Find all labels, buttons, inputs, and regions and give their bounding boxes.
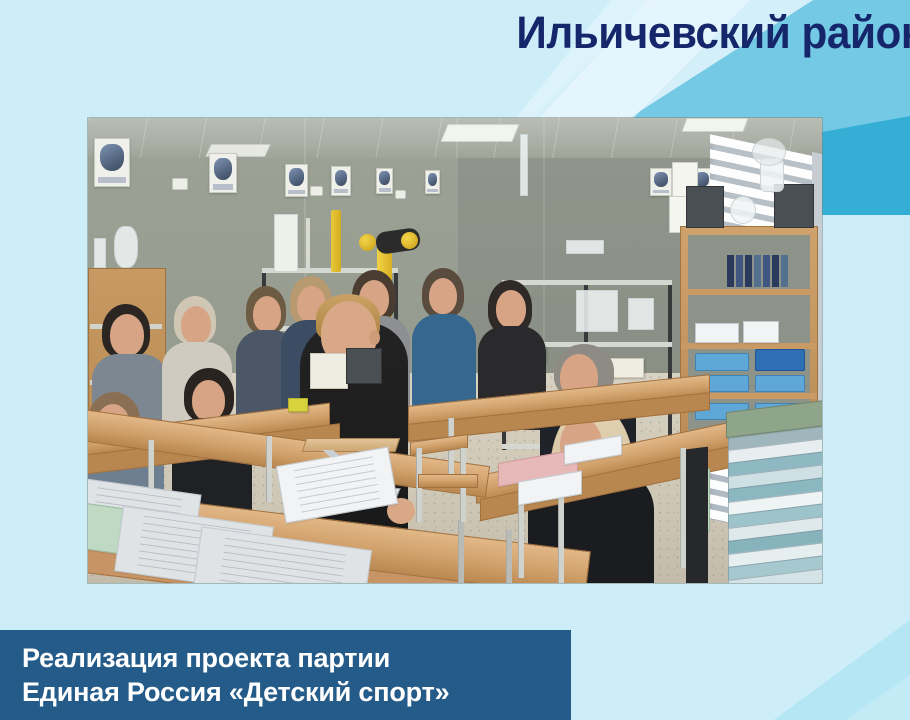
- book: [736, 255, 743, 287]
- lab-model: [752, 138, 786, 166]
- rack-board: [502, 280, 672, 285]
- wall-portrait: [331, 166, 351, 196]
- sample-box: [310, 353, 348, 389]
- rack-post: [668, 280, 672, 450]
- caption-banner: Реализация проекта партии Единая Россия …: [0, 630, 571, 720]
- desk-leg: [458, 520, 464, 583]
- lab-apparatus: [274, 214, 298, 272]
- sample-box-dark: [346, 348, 382, 384]
- yellow-clip: [288, 398, 308, 412]
- desk-leg: [266, 436, 272, 502]
- caption-line-2: Единая Россия «Детский спорт»: [22, 675, 571, 709]
- lab-glass-tube: [520, 134, 528, 196]
- wall-portrait: [425, 170, 440, 194]
- book: [781, 255, 788, 287]
- ceiling-light: [440, 124, 519, 142]
- desk-leg: [558, 488, 564, 583]
- globe-model: [730, 196, 756, 224]
- lab-glassware: [566, 240, 604, 254]
- document-lines: [293, 456, 380, 514]
- storage-tray: [755, 349, 805, 371]
- microphone-knob: [401, 232, 418, 249]
- wall-portrait: [650, 168, 672, 196]
- lab-glassware: [628, 298, 654, 330]
- classroom-photo: [88, 118, 822, 583]
- book-row: [727, 255, 788, 287]
- desk-leg: [506, 530, 512, 583]
- book: [727, 255, 734, 287]
- chair-back: [686, 447, 708, 583]
- storage-tray: [755, 375, 805, 392]
- storage-tray: [695, 353, 749, 371]
- yellow-lab-rod: [331, 210, 341, 272]
- wall-socket: [310, 186, 323, 196]
- caption-line-1: Реализация проекта партии: [22, 641, 571, 675]
- chair-seat: [418, 474, 478, 488]
- presentation-slide: Ильичевский район: [0, 0, 910, 720]
- bookcase-shelf: [681, 289, 817, 295]
- standing-speaker-ear: [369, 330, 380, 345]
- wall-portrait: [94, 138, 130, 187]
- display-box: [686, 186, 724, 228]
- wall-portrait: [285, 164, 308, 197]
- ceiling-light: [681, 118, 748, 132]
- photo-scene: [88, 118, 822, 583]
- lab-model: [576, 290, 618, 332]
- folder-pile: [728, 412, 822, 583]
- book: [745, 255, 752, 287]
- book: [763, 255, 770, 287]
- wall-portrait: [209, 153, 237, 193]
- shelf-papers: [743, 321, 779, 343]
- book: [772, 255, 779, 287]
- wall-socket: [395, 190, 406, 199]
- wall-portrait: [376, 168, 393, 194]
- lab-glassware: [94, 238, 106, 268]
- shelf-papers: [695, 323, 739, 343]
- document-lines: [218, 538, 347, 583]
- book: [754, 255, 761, 287]
- wall-socket: [172, 178, 188, 190]
- lab-stand-rod: [306, 218, 310, 270]
- microphone-knob: [359, 234, 376, 251]
- lab-model: [114, 226, 138, 268]
- page-title: Ильичевский район: [516, 9, 873, 56]
